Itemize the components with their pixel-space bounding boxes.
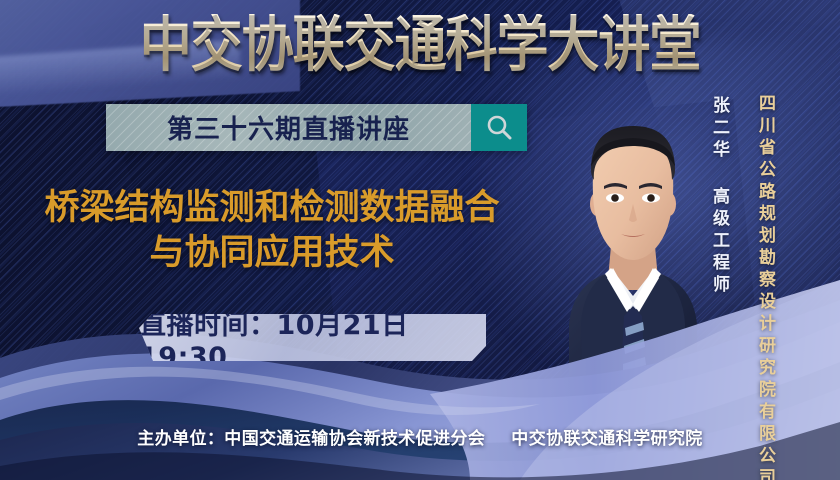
organizer-footer: 主办单位：中国交通运输协会新技术促进分会中交协联交通科学研究院 bbox=[0, 424, 840, 449]
session-badge: 第三十六期直播讲座 bbox=[106, 104, 527, 151]
topic-title: 桥梁结构监测和检测数据融合 与协同应用技术 bbox=[22, 186, 522, 276]
organizer-suffix: 中交协联交通科学研究院 bbox=[511, 429, 702, 449]
main-title: 中交协联交通科学大讲堂 bbox=[0, 14, 840, 75]
speaker-organization: 四川省公路规划勘察设计研究院有限公司 bbox=[753, 94, 778, 480]
organizer-prefix: 主办单位：中国交通运输协会新技术促进分会 bbox=[137, 429, 485, 449]
topic-title-line1: 桥梁结构监测和检测数据融合 bbox=[44, 188, 499, 228]
topic-title-line2: 与协同应用技术 bbox=[22, 231, 522, 276]
broadcast-time-box: 直播时间：10月21日19:30 bbox=[139, 314, 486, 361]
session-badge-label: 第三十六期直播讲座 bbox=[167, 109, 410, 146]
speaker-name-title: 张二华 高级工程师 bbox=[707, 96, 732, 297]
session-badge-label-wrap: 第三十六期直播讲座 bbox=[106, 104, 471, 151]
webinar-poster: 中交协联交通科学大讲堂 中交协联交通科学大讲堂 第三十六期直播讲座 桥梁结构监测… bbox=[0, 0, 840, 480]
search-icon[interactable] bbox=[471, 104, 527, 151]
